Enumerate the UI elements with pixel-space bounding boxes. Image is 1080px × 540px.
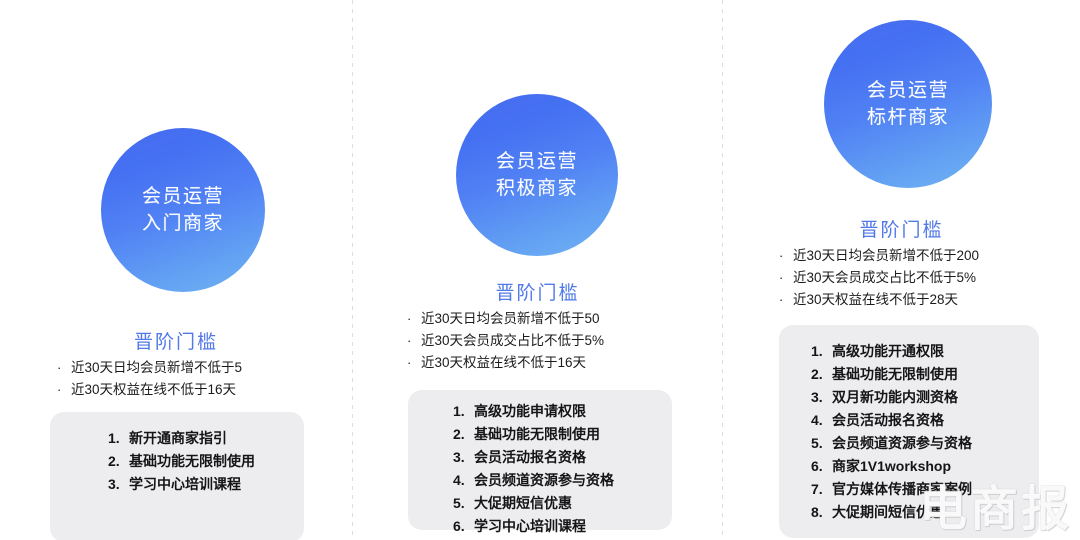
benefit-index: 6. — [811, 455, 832, 478]
benefits-list-active: 1. 高级功能申请权限 2. 基础功能无限制使用 3. 会员活动报名资格 4. … — [453, 400, 614, 538]
benefit-item: 2. 基础功能无限制使用 — [811, 363, 972, 386]
benefit-index: 1. — [811, 340, 832, 363]
bullet-dot-icon: · — [407, 352, 421, 374]
benefit-index: 1. — [108, 427, 129, 450]
threshold-heading-entry: 晋阶门槛 — [0, 327, 352, 354]
benefit-item: 6. 商家1V1workshop — [811, 455, 972, 478]
bullet-dot-icon: · — [779, 267, 793, 289]
benefit-index: 3. — [453, 446, 474, 469]
benefit-text: 商家1V1workshop — [832, 455, 951, 478]
threshold-bullet-text: 近30天日均会员新增不低于50 — [421, 308, 600, 330]
benefit-index: 6. — [453, 515, 474, 538]
tier-circle-benchmark: 会员运营 标杆商家 — [824, 20, 992, 188]
threshold-bullet: · 近30天权益在线不低于16天 — [407, 352, 604, 374]
infographic-canvas: 会员运营 入门商家 晋阶门槛 · 近30天日均会员新增不低于5 · 近30天权益… — [0, 0, 1080, 540]
benefit-index: 2. — [811, 363, 832, 386]
threshold-bullet-text: 近30天权益在线不低于28天 — [793, 289, 958, 311]
threshold-bullet: · 近30天会员成交占比不低于5% — [407, 330, 604, 352]
benefit-index: 8. — [811, 501, 832, 524]
threshold-bullet-text: 近30天会员成交占比不低于5% — [421, 330, 604, 352]
benefit-item: 2. 基础功能无限制使用 — [453, 423, 614, 446]
benefit-item: 5. 大促期短信优惠 — [453, 492, 614, 515]
tier-circle-title-line-2: 标杆商家 — [867, 104, 949, 131]
benefit-text: 大促期间短信优惠 — [832, 501, 944, 524]
benefit-item: 4. 会员活动报名资格 — [811, 409, 972, 432]
bullet-dot-icon: · — [57, 357, 71, 379]
benefits-list-benchmark: 1. 高级功能开通权限 2. 基础功能无限制使用 3. 双月新功能内测资格 4.… — [811, 340, 972, 524]
threshold-list-benchmark: · 近30天日均会员新增不低于200 · 近30天会员成交占比不低于5% · 近… — [779, 245, 979, 311]
benefit-text: 会员频道资源参与资格 — [474, 469, 614, 492]
threshold-bullet: · 近30天会员成交占比不低于5% — [779, 267, 979, 289]
threshold-bullet-text: 近30天权益在线不低于16天 — [71, 379, 236, 401]
benefit-item: 3. 会员活动报名资格 — [453, 446, 614, 469]
benefit-text: 学习中心培训课程 — [129, 473, 241, 496]
benefit-item: 4. 会员频道资源参与资格 — [453, 469, 614, 492]
benefit-text: 会员频道资源参与资格 — [832, 432, 972, 455]
benefit-item: 5. 会员频道资源参与资格 — [811, 432, 972, 455]
threshold-heading-benchmark: 晋阶门槛 — [723, 215, 1080, 242]
benefit-text: 双月新功能内测资格 — [832, 386, 958, 409]
benefit-index: 3. — [811, 386, 832, 409]
benefit-item: 2. 基础功能无限制使用 — [108, 450, 255, 473]
benefit-item: 1. 高级功能开通权限 — [811, 340, 972, 363]
benefit-item: 6. 学习中心培训课程 — [453, 515, 614, 538]
threshold-bullet-text: 近30天日均会员新增不低于5 — [71, 357, 242, 379]
benefit-text: 学习中心培训课程 — [474, 515, 586, 538]
tier-column-active: 会员运营 积极商家 晋阶门槛 · 近30天日均会员新增不低于50 · 近30天会… — [353, 0, 722, 540]
benefit-text: 高级功能申请权限 — [474, 400, 586, 423]
benefit-index: 5. — [811, 432, 832, 455]
benefit-item: 1. 新开通商家指引 — [108, 427, 255, 450]
bullet-dot-icon: · — [779, 245, 793, 267]
bullet-dot-icon: · — [407, 308, 421, 330]
benefit-index: 2. — [453, 423, 474, 446]
benefit-index: 3. — [108, 473, 129, 496]
threshold-bullet: · 近30天日均会员新增不低于50 — [407, 308, 604, 330]
threshold-bullet-text: 近30天日均会员新增不低于200 — [793, 245, 979, 267]
threshold-bullet: · 近30天权益在线不低于28天 — [779, 289, 979, 311]
threshold-bullet: · 近30天日均会员新增不低于200 — [779, 245, 979, 267]
benefit-text: 大促期短信优惠 — [474, 492, 572, 515]
tier-circle-title-line-1: 会员运营 — [867, 77, 949, 104]
threshold-bullet-text: 近30天权益在线不低于16天 — [421, 352, 586, 374]
bullet-dot-icon: · — [407, 330, 421, 352]
tier-column-benchmark: 会员运营 标杆商家 晋阶门槛 · 近30天日均会员新增不低于200 · 近30天… — [723, 0, 1080, 540]
benefit-text: 高级功能开通权限 — [832, 340, 944, 363]
benefit-text: 官方媒体传播商家案例 — [832, 478, 972, 501]
tier-circle-title-line-1: 会员运营 — [142, 183, 224, 210]
tier-circle-title-line-1: 会员运营 — [496, 148, 578, 175]
benefit-item: 7. 官方媒体传播商家案例 — [811, 478, 972, 501]
benefit-text: 基础功能无限制使用 — [832, 363, 958, 386]
tier-circle-entry: 会员运营 入门商家 — [101, 128, 265, 292]
threshold-bullet: · 近30天权益在线不低于16天 — [57, 379, 242, 401]
benefit-index: 7. — [811, 478, 832, 501]
benefit-text: 新开通商家指引 — [129, 427, 227, 450]
tier-circle-title-line-2: 积极商家 — [496, 175, 578, 202]
threshold-bullet: · 近30天日均会员新增不低于5 — [57, 357, 242, 379]
benefit-text: 基础功能无限制使用 — [474, 423, 600, 446]
bullet-dot-icon: · — [57, 379, 71, 401]
benefit-index: 2. — [108, 450, 129, 473]
tier-circle-active: 会员运营 积极商家 — [456, 94, 618, 256]
threshold-bullet-text: 近30天会员成交占比不低于5% — [793, 267, 976, 289]
threshold-list-active: · 近30天日均会员新增不低于50 · 近30天会员成交占比不低于5% · 近3… — [407, 308, 604, 374]
tier-circle-title-line-2: 入门商家 — [142, 210, 224, 237]
benefit-index: 1. — [453, 400, 474, 423]
benefit-text: 基础功能无限制使用 — [129, 450, 255, 473]
threshold-list-entry: · 近30天日均会员新增不低于5 · 近30天权益在线不低于16天 — [57, 357, 242, 401]
benefit-text: 会员活动报名资格 — [832, 409, 944, 432]
tier-column-entry: 会员运营 入门商家 晋阶门槛 · 近30天日均会员新增不低于5 · 近30天权益… — [0, 0, 352, 540]
benefit-index: 5. — [453, 492, 474, 515]
benefit-item: 3. 学习中心培训课程 — [108, 473, 255, 496]
bullet-dot-icon: · — [779, 289, 793, 311]
benefit-index: 4. — [811, 409, 832, 432]
threshold-heading-active: 晋阶门槛 — [353, 278, 722, 305]
benefit-text: 会员活动报名资格 — [474, 446, 586, 469]
benefit-item: 3. 双月新功能内测资格 — [811, 386, 972, 409]
benefit-item: 8. 大促期间短信优惠 — [811, 501, 972, 524]
benefit-item: 1. 高级功能申请权限 — [453, 400, 614, 423]
benefits-list-entry: 1. 新开通商家指引 2. 基础功能无限制使用 3. 学习中心培训课程 — [108, 427, 255, 496]
benefit-index: 4. — [453, 469, 474, 492]
